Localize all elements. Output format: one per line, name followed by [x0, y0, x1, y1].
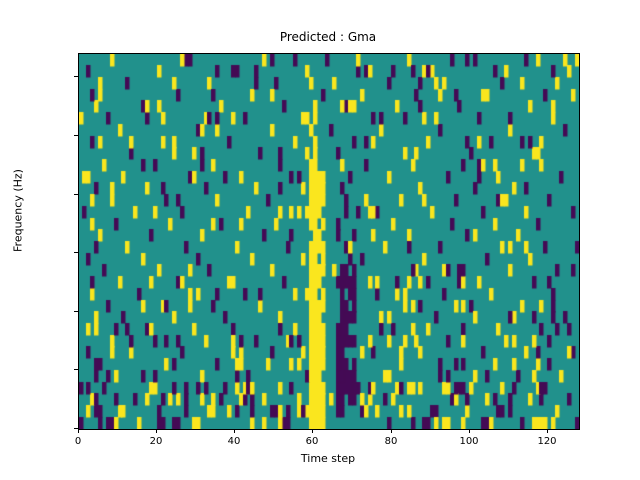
x-tick-label: 60: [292, 436, 332, 447]
y-tick-mark: [74, 135, 78, 136]
x-tick-label: 100: [449, 436, 489, 447]
x-tick-mark: [469, 429, 470, 433]
y-tick-mark: [74, 369, 78, 370]
x-tick-mark: [78, 429, 79, 433]
y-axis-label: Frequency (Hz): [12, 61, 25, 361]
x-tick-mark: [312, 429, 313, 433]
x-tick-label: 40: [214, 436, 254, 447]
matplotlib-figure: Predicted : Gma Frequency (Hz) Time step…: [0, 0, 640, 480]
y-tick-mark: [74, 76, 78, 77]
y-tick-mark: [74, 311, 78, 312]
x-tick-mark: [234, 429, 235, 433]
x-tick-label: 80: [371, 436, 411, 447]
heatmap-canvas[interactable]: [79, 54, 579, 429]
x-axis-label: Time step: [78, 452, 578, 465]
x-tick-label: 20: [136, 436, 176, 447]
heatmap-axes[interactable]: [78, 53, 580, 430]
y-tick-mark: [74, 252, 78, 253]
x-tick-mark: [391, 429, 392, 433]
x-tick-label: 0: [58, 436, 98, 447]
chart-title: Predicted : Gma: [78, 30, 578, 44]
y-tick-mark: [74, 194, 78, 195]
x-tick-mark: [156, 429, 157, 433]
x-tick-mark: [547, 429, 548, 433]
x-tick-label: 120: [527, 436, 567, 447]
